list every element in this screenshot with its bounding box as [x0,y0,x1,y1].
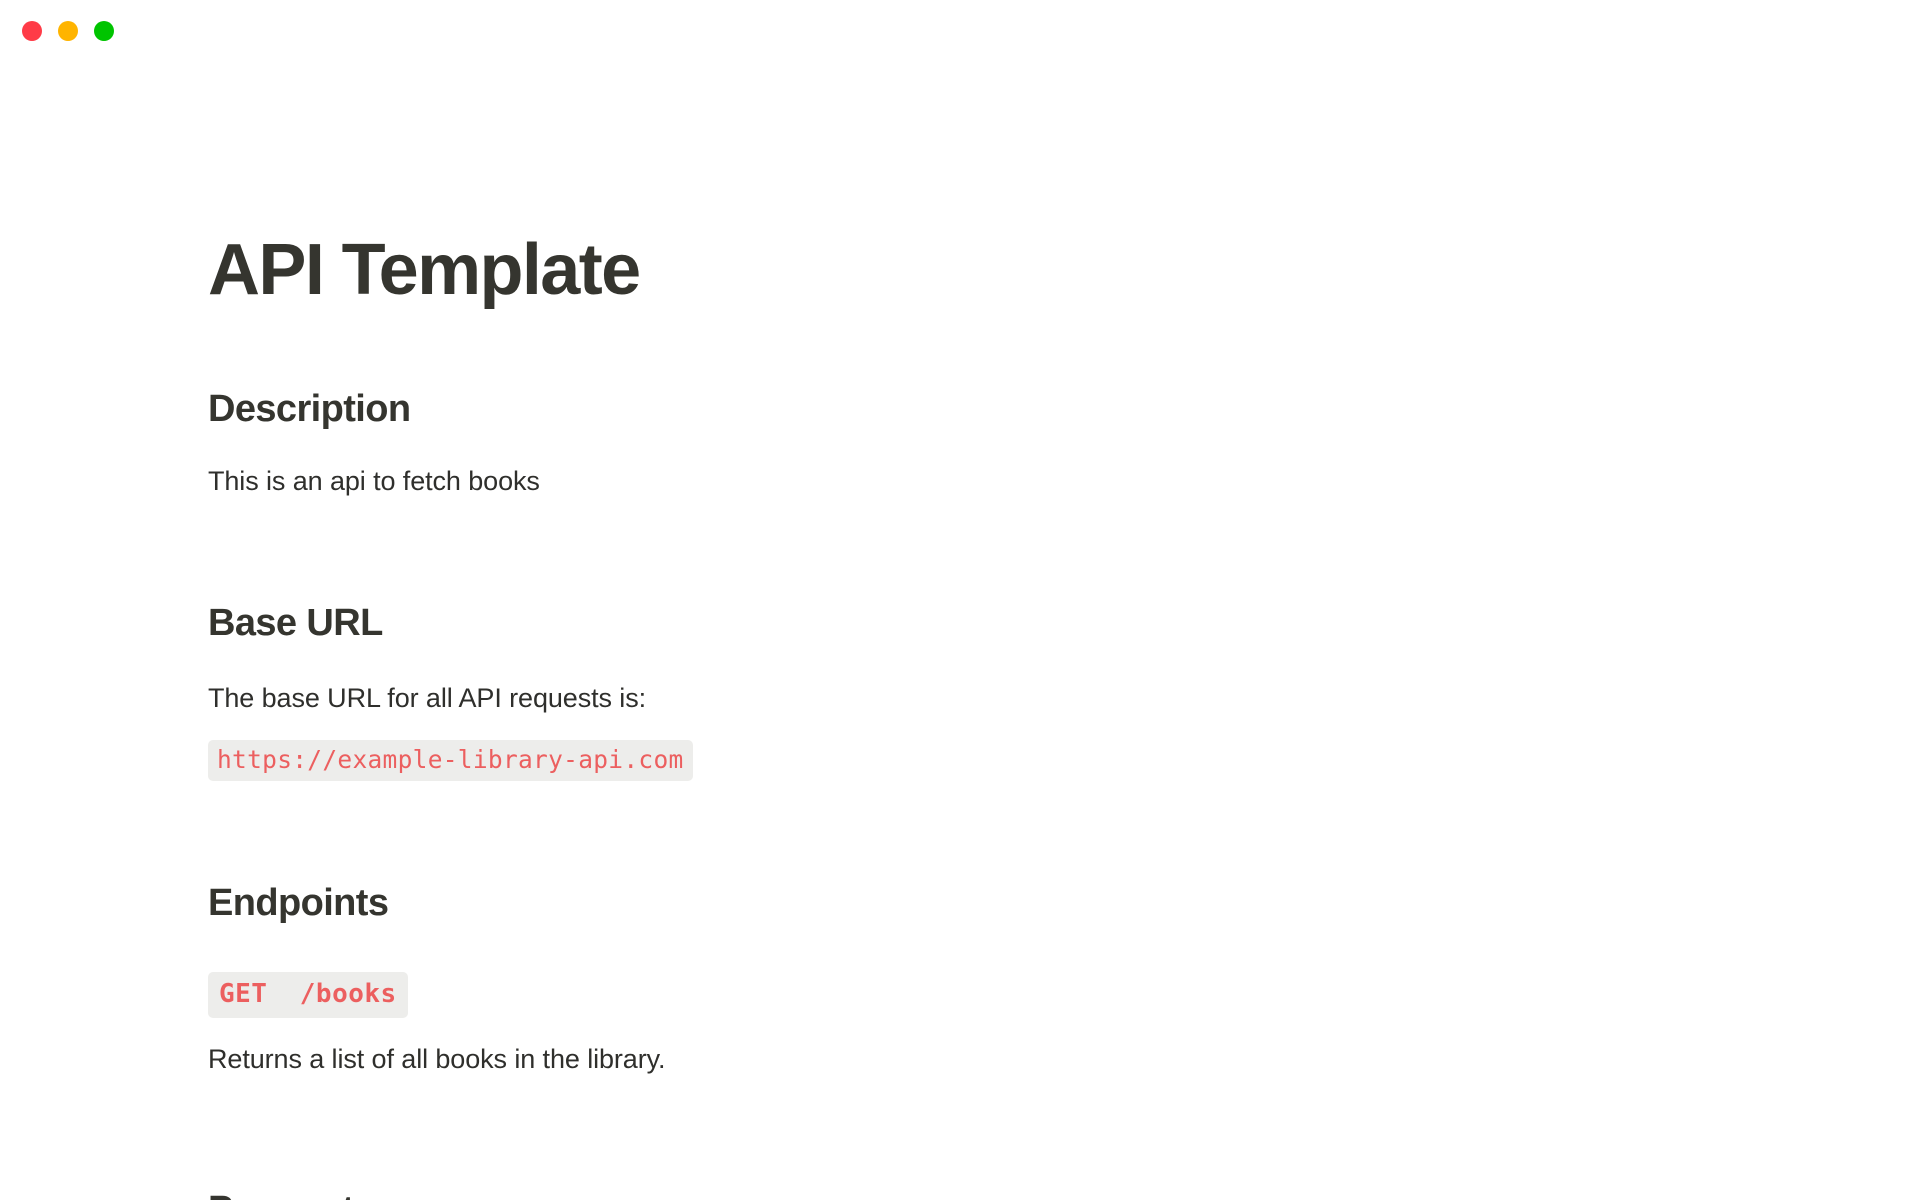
section-heading-description[interactable]: Description [208,388,1308,432]
section-heading-endpoints[interactable]: Endpoints [208,882,1308,926]
minimize-window-button[interactable] [58,21,78,41]
traffic-lights [22,21,114,41]
base-url-code-chip[interactable]: https://example-library-api.com [208,740,693,780]
document-body: API Template Description This is an api … [208,232,1308,1200]
base-url-intro-paragraph[interactable]: The base URL for all API requests is: [208,679,1308,718]
description-paragraph[interactable]: This is an api to fetch books [208,462,1308,501]
endpoint-description-paragraph[interactable]: Returns a list of all books in the libra… [208,1040,1308,1079]
maximize-window-button[interactable] [94,21,114,41]
page-title[interactable]: API Template [208,232,1308,310]
section-heading-parameters[interactable]: Parameters [208,1189,1308,1200]
window-chrome [0,0,1920,62]
close-window-button[interactable] [22,21,42,41]
base-url-code-row: https://example-library-api.com [208,740,1308,780]
document-canvas[interactable]: API Template Description This is an api … [0,62,1920,1200]
section-heading-base-url[interactable]: Base URL [208,602,1308,646]
endpoint-method-path-chip[interactable]: GET /books [208,972,408,1018]
endpoint-code-row: GET /books [208,926,1308,1018]
